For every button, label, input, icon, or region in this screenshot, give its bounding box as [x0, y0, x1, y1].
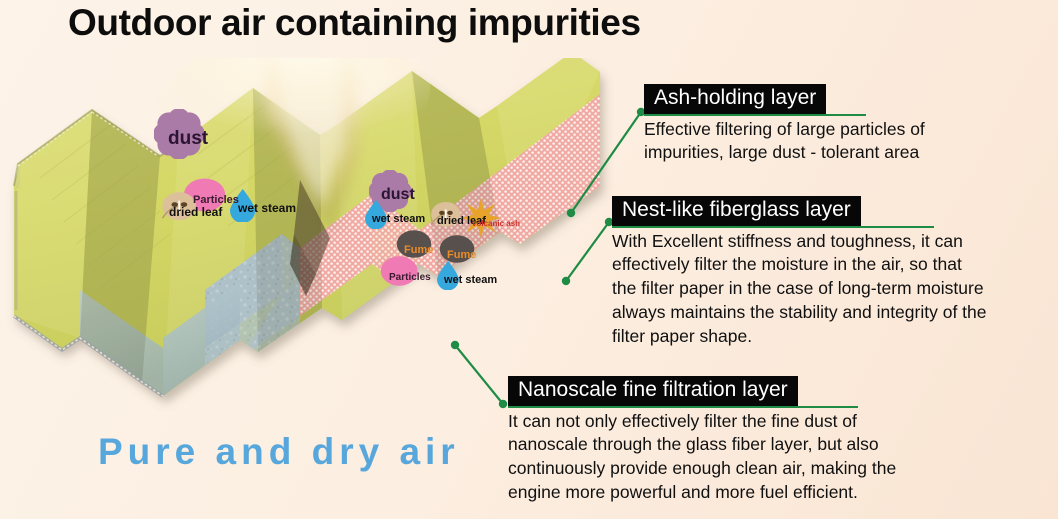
callout-nano-heading: Nanoscale fine filtration layer [508, 376, 798, 406]
dried-leaf-label: dried leaf [169, 205, 222, 219]
callout-nest-underline [612, 226, 934, 228]
particle-dust: dust [168, 128, 208, 150]
callout-ash-heading: Ash-holding layer [644, 84, 826, 114]
pleated-filter-illustration [0, 58, 640, 428]
callout-ash-holding-layer: Ash-holding layer Effective filtering of… [644, 84, 1044, 165]
wet-steam-label: wet steam [238, 201, 296, 215]
callout-ash-heading-wrap: Ash-holding layer [644, 84, 1044, 116]
callout-nest-fiberglass-layer: Nest-like fiberglass layer With Excellen… [612, 196, 1052, 349]
volcanic-ash-label: volcanic ash [472, 219, 520, 228]
callout-ash-body: Effective filtering of large particles o… [644, 118, 1044, 166]
callout-nano-heading-wrap: Nanoscale fine filtration layer [508, 376, 1054, 408]
callout-ash-underline [644, 114, 866, 116]
infographic-canvas: Outdoor air containing impurities [0, 0, 1058, 519]
particle-wet-steam-3: wet steam [444, 270, 497, 288]
callout-nano-underline [508, 406, 858, 408]
callout-nanoscale-filtration-layer: Nanoscale fine filtration layer It can n… [508, 376, 1054, 505]
page-title: Outdoor air containing impurities [68, 2, 641, 44]
particle-dust-2: dust [381, 186, 415, 204]
fume-label: Fume [404, 244, 433, 256]
particles-2-label: Particles [389, 272, 431, 283]
particle-fume-2: Fume [447, 245, 476, 263]
callout-nano-body: It can not only effectively filter the f… [508, 410, 1054, 505]
particle-dried-leaf: dried leaf [169, 203, 222, 221]
dust-2-label: dust [381, 186, 415, 203]
wet-steam-3-label: wet steam [444, 274, 497, 286]
dust-label: dust [168, 128, 208, 149]
particle-fume: Fume [404, 240, 433, 258]
particle-particles-2: Particles [389, 267, 431, 285]
fume-2-label: Fume [447, 249, 476, 261]
pure-and-dry-air-label: Pure and dry air [98, 431, 460, 473]
wet-steam-2-label: wet steam [372, 213, 425, 225]
particle-wet-steam: wet steam [238, 199, 296, 217]
callout-nest-body: With Excellent stiffness and toughness, … [612, 230, 1052, 349]
callout-nest-heading-wrap: Nest-like fiberglass layer [612, 196, 1052, 228]
callout-nest-heading: Nest-like fiberglass layer [612, 196, 861, 226]
